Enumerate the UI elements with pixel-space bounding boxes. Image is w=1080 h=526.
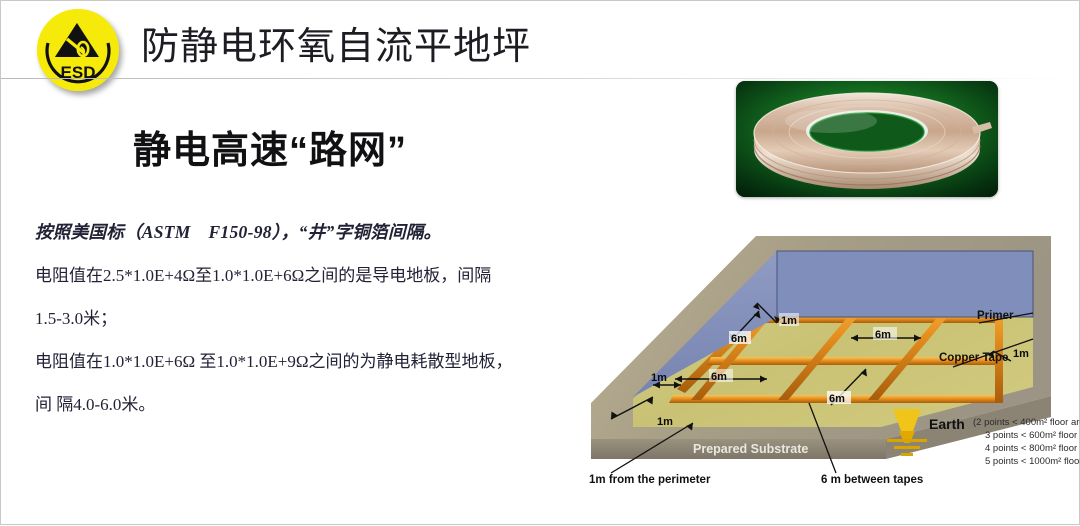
callout-primer: Primer bbox=[977, 310, 1014, 322]
earth-legend-line-3: 4 points < 800m² floor area bbox=[985, 443, 1080, 454]
dim-label-6: 1m bbox=[657, 416, 673, 428]
copper-tape-roll-image bbox=[736, 81, 998, 197]
floor-grid-diagram: 1m 6m 6m 1m 6m 1m 1m 6m Primer Copper Ta… bbox=[581, 191, 1080, 491]
paragraph-line-4: 电阻值在1.0*1.0E+6Ω 至1.0*1.0E+9Ω之间的为静电耗散型地板， bbox=[35, 340, 591, 383]
epoxy-floor-face bbox=[777, 251, 1033, 317]
callout-perimeter: 1m from the perimeter bbox=[589, 474, 711, 486]
callout-copper-tape: Copper Tape bbox=[939, 352, 1008, 364]
body-text-block: 按照美国标（ASTM F150-98），“井”字铜箔间隔。 电阻值在2.5*1.… bbox=[35, 211, 591, 426]
paragraph-lead: 按照美国标（ASTM F150-98），“井”字铜箔间隔。 bbox=[35, 211, 591, 254]
dim-label-7: 6m bbox=[829, 393, 845, 405]
callout-earth: Earth bbox=[929, 416, 965, 432]
dim-label-1: 6m bbox=[731, 333, 747, 345]
dim-label-5: 1m bbox=[1013, 348, 1029, 360]
earth-legend-line-4: 5 points < 1000m² floor area) bbox=[985, 456, 1080, 467]
dim-label-3: 1m bbox=[651, 372, 667, 384]
slide-header: ESD 防静电环氧自流平地坪 bbox=[1, 1, 1079, 79]
page-title: 防静电环氧自流平地坪 bbox=[141, 15, 531, 70]
callout-prepared-substrate: Prepared Substrate bbox=[693, 442, 808, 456]
esd-floor-isometric-illustration: 1m 6m 6m 1m 6m 1m 1m 6m Primer Copper Ta… bbox=[581, 191, 1080, 491]
copper-tape-photo bbox=[736, 81, 998, 197]
earth-legend-line-1: (2 points < 400m² floor area bbox=[973, 417, 1080, 428]
earth-legend-line-2: 3 points < 600m² floor area bbox=[985, 430, 1080, 441]
left-content-column: 静电高速“路网” 按照美国标（ASTM F150-98），“井”字铜箔间隔。 电… bbox=[1, 79, 601, 526]
paragraph-line-2: 电阻值在2.5*1.0E+4Ω至1.0*1.0E+6Ω之间的是导电地板，间隔 bbox=[35, 254, 591, 297]
paragraph-line-3: 1.5-3.0米； bbox=[35, 297, 591, 340]
slide-root: ESD 防静电环氧自流平地坪 静电高速“路网” 按照美国标（ASTM F150-… bbox=[0, 0, 1080, 525]
dim-label-2: 6m bbox=[875, 329, 891, 341]
dim-label-4: 6m bbox=[711, 371, 727, 383]
paragraph-line-5: 间 隔4.0-6.0米。 bbox=[35, 383, 591, 426]
earth-legend: (2 points < 400m² floor area 3 points < … bbox=[973, 417, 1080, 467]
callout-between-tapes: 6 m between tapes bbox=[821, 474, 923, 486]
section-subtitle: 静电高速“路网” bbox=[133, 119, 407, 174]
dim-label-0: 1m bbox=[781, 315, 797, 327]
